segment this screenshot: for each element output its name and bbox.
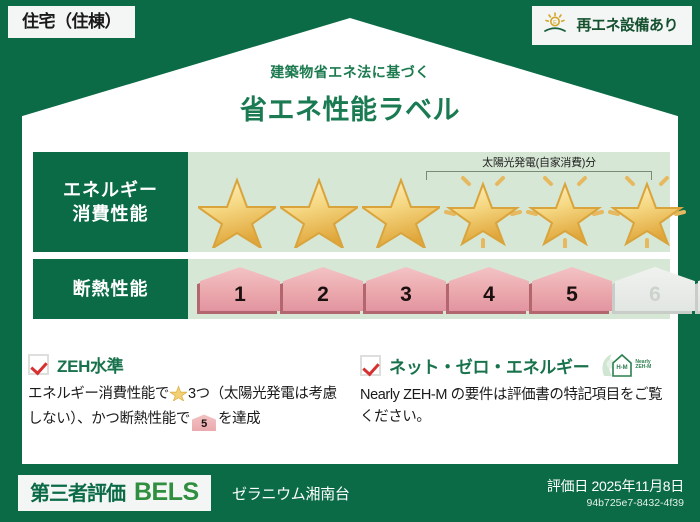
note-body: Nearly ZEH-M の要件は評価書の特記項目をご覧ください。 (360, 384, 674, 429)
star-icon (362, 174, 440, 248)
performance-rows: エネルギー 消費性能 太陽光発電(自家消費)分 (33, 152, 670, 326)
note-header: ZEH水準 (28, 352, 342, 377)
building-type-tag: 住宅（住棟） (8, 6, 135, 38)
insulation-performance-row: 断熱性能 1 2 3 (33, 259, 670, 319)
svg-text:E: E (554, 20, 558, 26)
inline-star-icon (170, 385, 187, 408)
note-body: エネルギー消費性能で3つ（太陽光発電は考慮しない）、かつ断熱性能で5を達成 (28, 383, 342, 431)
energy-performance-label: エネルギー 消費性能 (33, 152, 188, 252)
checkmark-icon (360, 355, 381, 376)
insulation-performance-label: 断熱性能 (33, 259, 188, 319)
energy-rating-area: 太陽光発電(自家消費)分 (188, 152, 670, 252)
note-title: ZEH水準 (57, 352, 124, 377)
energy-star-rating (198, 174, 686, 248)
solar-annotation-label: 太陽光発電(自家消費)分 (426, 154, 652, 170)
note-title: ネット・ゼロ・エネルギー (389, 353, 589, 378)
energy-performance-row: エネルギー 消費性能 太陽光発電(自家消費)分 (33, 152, 670, 252)
insulation-grade-item: 6 (615, 267, 695, 311)
solar-sun-icon: E (542, 12, 568, 38)
svg-text:H-M: H-M (617, 365, 628, 371)
note-net-zero-energy: ネット・ゼロ・エネルギー H-M Nearly ZEH-M Nearly ZEH… (360, 352, 674, 431)
insulation-grade-scale: 1 2 3 4 5 (200, 267, 700, 311)
star-icon-solar (444, 174, 522, 248)
notes-section: ZEH水準 エネルギー消費性能で3つ（太陽光発電は考慮しない）、かつ断熱性能で5… (28, 352, 676, 431)
project-name: ゼラニウム湘南台 (232, 483, 350, 504)
title-subtitle: 建築物省エネ法に基づく (0, 62, 700, 82)
star-icon (198, 174, 276, 248)
checkmark-icon (28, 354, 49, 375)
zeh-m-logo-caption: Nearly ZEH-M (635, 360, 651, 371)
label-frame: 住宅（住棟） E 再エネ設備あり 建築物省エネ法に基づく 省エネ性能ラベル (0, 0, 700, 522)
star-icon-solar (526, 174, 604, 248)
insulation-grade-item: 5 (532, 267, 612, 311)
insulation-grade-item: 1 (200, 267, 280, 311)
nearly-zeh-m-logo-icon: H-M Nearly ZEH-M (601, 352, 651, 378)
footer-bar: 第三者評価 BELS ゼラニウム湘南台 評価日 2025年11月8日 94b72… (0, 466, 700, 522)
insulation-grade-item: 4 (449, 267, 529, 311)
insulation-grade-item: 2 (283, 267, 363, 311)
note-zeh-standard: ZEH水準 エネルギー消費性能で3つ（太陽光発電は考慮しない）、かつ断熱性能で5… (28, 352, 342, 431)
evaluation-date: 評価日 2025年11月8日 (547, 476, 684, 496)
inline-grade-badge: 5 (192, 414, 216, 431)
third-party-label: 第三者評価 (30, 484, 125, 504)
renewable-equipment-badge: E 再エネ設備あり (532, 6, 692, 45)
bels-label: BELS (134, 480, 199, 505)
bels-certification-chip: 第三者評価 BELS (18, 475, 211, 511)
note-header: ネット・ゼロ・エネルギー H-M Nearly ZEH-M (360, 352, 674, 378)
page-title: 省エネ性能ラベル (0, 88, 700, 127)
insulation-grade-item: 3 (366, 267, 446, 311)
evaluation-id: 94b725e7-8432-4f39 (586, 497, 684, 509)
insulation-rating-area: 1 2 3 4 5 (188, 259, 670, 319)
title-block: 建築物省エネ法に基づく 省エネ性能ラベル (0, 62, 700, 127)
star-icon-solar (608, 174, 686, 248)
renewable-badge-label: 再エネ設備あり (576, 18, 678, 33)
star-icon (280, 174, 358, 248)
